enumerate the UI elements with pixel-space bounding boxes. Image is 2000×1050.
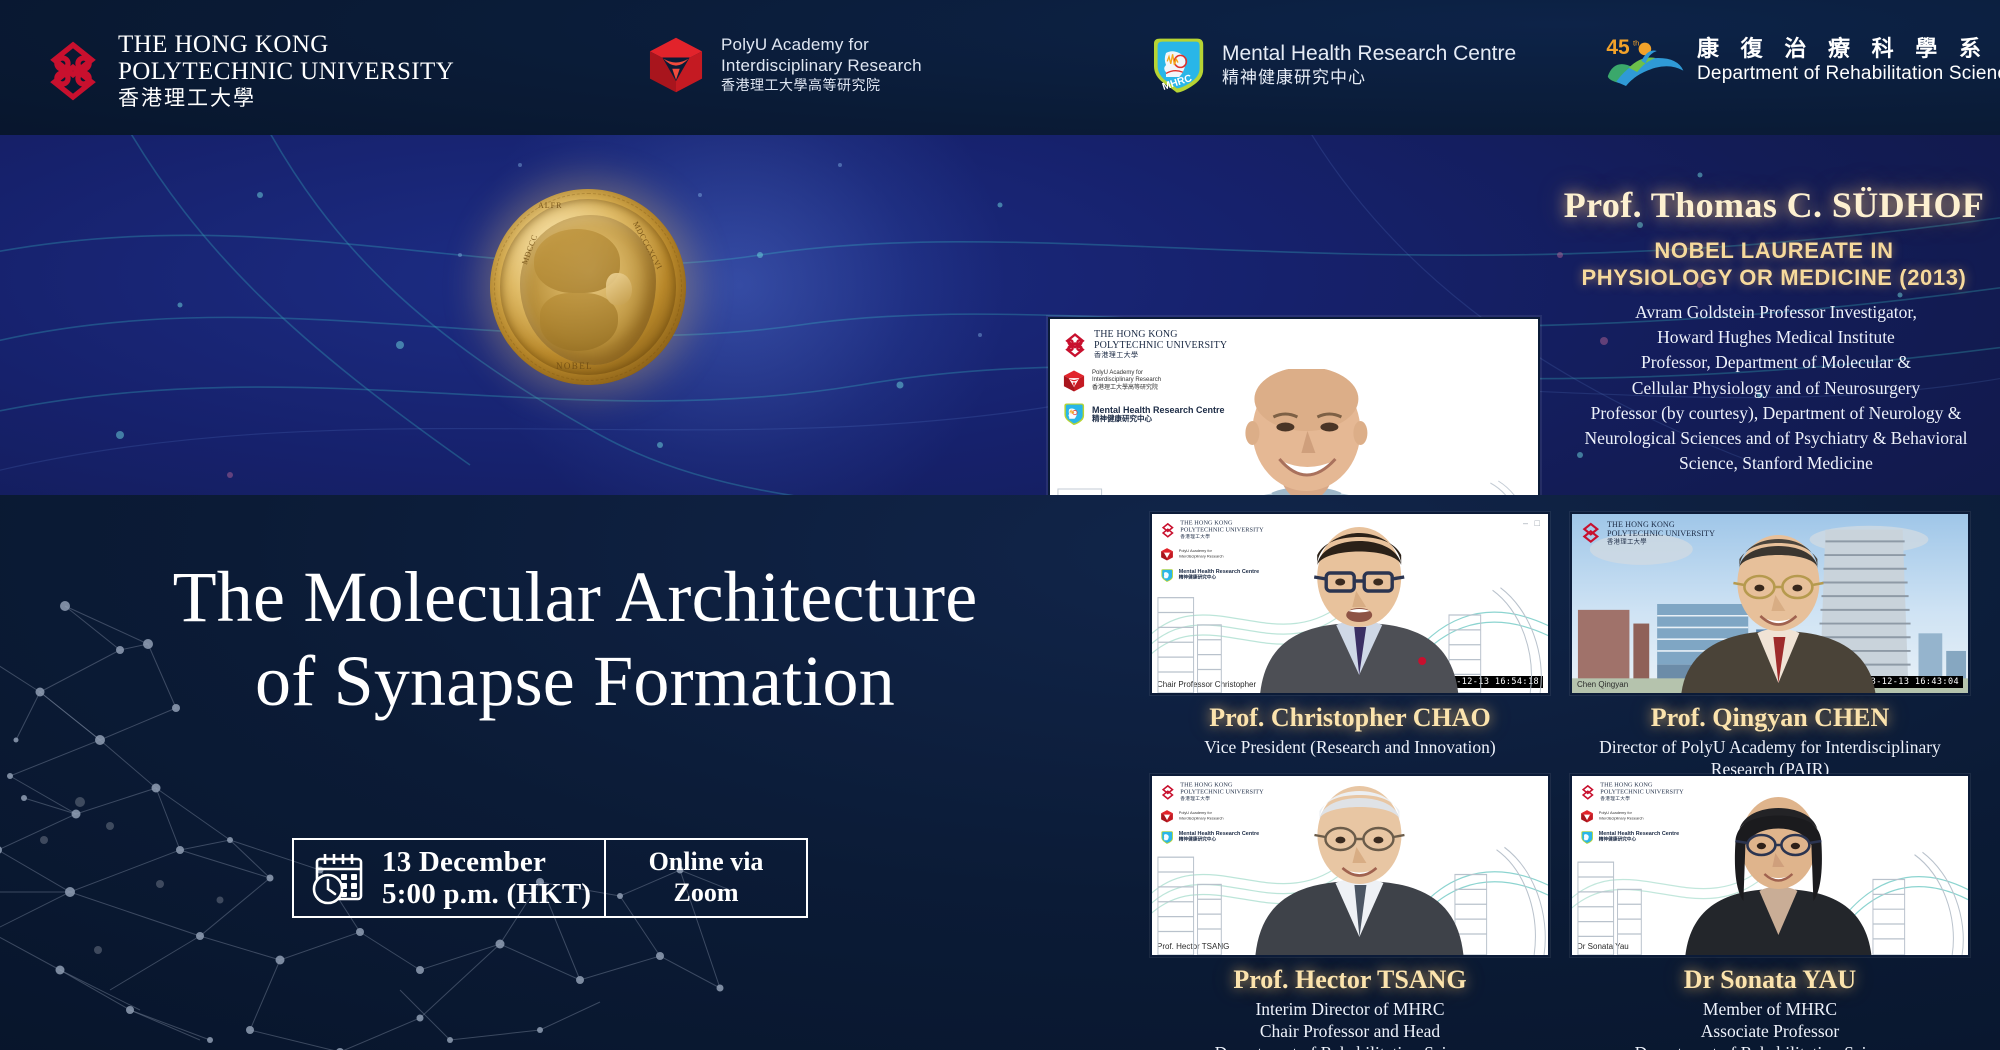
speaker-affiliation: Avram Goldstein Professor Investigator, … <box>1558 300 1994 476</box>
thumb-polyu-line2: POLYTECHNIC UNIVERSITY <box>1607 529 1715 538</box>
event-time: 5:00 p.m. (HKT) <box>382 878 591 910</box>
thumb-polyu-cn: 香港理工大學 <box>1180 797 1263 802</box>
overlay-polyu-line2: POLYTECHNIC UNIVERSITY <box>1094 340 1227 351</box>
polyu-knot-icon <box>1160 784 1176 800</box>
pair-chinese: 香港理工大學高等研究院 <box>721 78 922 95</box>
panelist-roles: Member of MHRC Associate Professor Depar… <box>1570 998 1970 1050</box>
venue-line1: Online via <box>649 847 764 878</box>
thumb-polyu-cn: 香港理工大學 <box>1180 535 1263 540</box>
lecture-title: The Molecular Architecture of Synapse Fo… <box>60 555 1090 723</box>
polyu-knot-icon <box>1160 522 1176 538</box>
logo-mhrc: MHRC Mental Health Research Centre 精神健康研… <box>1148 35 1516 95</box>
pair-cube-icon <box>1062 369 1086 393</box>
panelist-video-thumb: THE HONG KONG POLYTECHNIC UNIVERSITY 香港理… <box>1150 512 1550 695</box>
thumb-polyu-line2: POLYTECHNIC UNIVERSITY <box>1180 789 1263 796</box>
medal-text-bottom: NOBEL <box>556 361 593 371</box>
panelist-name: Prof. Hector TSANG <box>1150 965 1550 995</box>
overlay-logo-pair: PolyU Academy for Interdisciplinary Rese… <box>1580 809 1684 823</box>
thumb-overlay-logos: THE HONG KONG POLYTECHNIC UNIVERSITY 香港理… <box>1580 520 1715 554</box>
thumb-corner-name: Chen Qingyan <box>1577 680 1628 689</box>
poster-root: THE HONG KONG POLYTECHNIC UNIVERSITY 香港理… <box>0 0 2000 1050</box>
video-overlay-logos: THE HONG KONG POLYTECHNIC UNIVERSITY 香港理… <box>1062 329 1227 435</box>
logo-polyu: THE HONG KONG POLYTECHNIC UNIVERSITY 香港理… <box>42 32 454 109</box>
panelist-role-line: Department of Rehabilitation Sciences <box>1150 1042 1550 1050</box>
affiliation-line: Avram Goldstein Professor Investigator, <box>1558 300 1994 325</box>
panelist-video-thumb: THE HONG KONG POLYTECHNIC UNIVERSITY 香港理… <box>1150 774 1550 957</box>
overlay-logo-mhrc: Mental Health Research Centre 精神健康研究中心 <box>1062 402 1227 426</box>
overlay-logo-polyu: THE HONG KONG POLYTECHNIC UNIVERSITY 香港理… <box>1580 520 1715 546</box>
affiliation-line: Neurological Sciences and of Psychiatry … <box>1558 426 1994 451</box>
panelist-video-thumb: THE HONG KONG POLYTECHNIC UNIVERSITY 香港理… <box>1570 774 1970 957</box>
venue-line2: Zoom <box>649 878 764 909</box>
panelist-role-line: Member of MHRC <box>1570 998 1970 1020</box>
mhrc-english: Mental Health Research Centre <box>1222 42 1516 67</box>
affiliation-line: Howard Hughes Medical Institute <box>1558 325 1994 350</box>
pair-cube-icon <box>1160 809 1174 823</box>
nobel-medal-graphic: MDCCC MDCCCXCVI ALFR NOBEL <box>472 157 702 457</box>
panelist-role-line: Interim Director of MHRC <box>1150 998 1550 1020</box>
overlay-logo-polyu: THE HONG KONG POLYTECHNIC UNIVERSITY 香港理… <box>1160 520 1264 540</box>
panelist-name: Dr Sonata YAU <box>1570 965 1970 995</box>
thumb-polyu-line2: POLYTECHNIC UNIVERSITY <box>1180 527 1263 534</box>
overlay-polyu-chinese: 香港理工大學 <box>1094 352 1227 360</box>
thumb-overlay-logos: THE HONG KONG POLYTECHNIC UNIVERSITY 香港理… <box>1160 520 1264 589</box>
svg-text:th: th <box>1633 38 1639 47</box>
overlay-logo-mhrc: Mental Health Research Centre 精神健康研究中心 <box>1160 830 1264 844</box>
mhrc-brain-icon <box>1580 830 1594 844</box>
speaker-award-line1: NOBEL LAUREATE IN <box>1548 238 2000 265</box>
logo-pair: PolyU Academy for Interdisciplinary Rese… <box>645 34 922 96</box>
calendar-clock-icon <box>310 849 370 907</box>
medal-nose <box>606 273 632 305</box>
rehab-45th-ribbon-icon: 45 th <box>1605 30 1689 92</box>
panelist-video-thumb: THE HONG KONG POLYTECHNIC UNIVERSITY 香港理… <box>1570 512 1970 695</box>
panelist-grid: THE HONG KONG POLYTECHNIC UNIVERSITY 香港理… <box>1130 512 1990 1050</box>
overlay-polyu-line1: THE HONG KONG <box>1094 329 1227 340</box>
event-details-box: 13 December 5:00 p.m. (HKT) Online via Z… <box>292 838 808 918</box>
overlay-logo-polyu: THE HONG KONG POLYTECHNIC UNIVERSITY 香港理… <box>1062 329 1227 360</box>
thumb-mhrc-cn: 精神健康研究中心 <box>1179 838 1259 843</box>
mhrc-brain-icon <box>1160 830 1174 844</box>
overlay-pair-chinese: 香港理工大學高等研究院 <box>1092 385 1161 393</box>
rehab-english: Department of Rehabilitation Sciences <box>1697 63 2000 85</box>
lecture-title-line1: The Molecular Architecture <box>60 555 1090 639</box>
overlay-logo-mhrc: Mental Health Research Centre 精神健康研究中心 <box>1580 830 1684 844</box>
event-datetime: 13 December 5:00 p.m. (HKT) <box>294 840 606 916</box>
polyu-line1: THE HONG KONG <box>118 31 329 58</box>
panelist-name: Prof. Christopher CHAO <box>1150 703 1550 733</box>
main-speaker-video-tile: THE HONG KONG POLYTECHNIC UNIVERSITY 香港理… <box>1048 317 1540 495</box>
thumb-mhrc-cn: 精神健康研究中心 <box>1179 576 1259 581</box>
panelist-roles: Vice President (Research and Innovation) <box>1150 736 1550 758</box>
logo-rehab-sciences: 45 th 康 復 治 療 科 學 系 Department of Rehabi… <box>1605 30 2000 92</box>
affiliation-line: Cellular Physiology and of Neurosurgery <box>1558 376 1994 401</box>
panelist-role-line: Associate Professor <box>1570 1020 1970 1042</box>
overlay-logo-pair: PolyU Academy for Interdisciplinary Rese… <box>1062 369 1227 393</box>
thumb-mhrc-cn: 精神健康研究中心 <box>1599 838 1679 843</box>
panelist-card: THE HONG KONG POLYTECHNIC UNIVERSITY 香港理… <box>1570 774 1970 1050</box>
event-venue: Online via Zoom <box>606 840 806 916</box>
polyu-chinese: 香港理工大學 <box>118 87 454 109</box>
lecture-title-line2: of Synapse Formation <box>60 639 1090 723</box>
medal-text-top: ALFR <box>538 201 562 210</box>
thumb-overlay-logos: THE HONG KONG POLYTECHNIC UNIVERSITY 香港理… <box>1160 782 1264 851</box>
thumb-polyu-line1: THE HONG KONG <box>1607 520 1715 529</box>
overlay-logo-mhrc: Mental Health Research Centre 精神健康研究中心 <box>1160 568 1264 582</box>
panelist-name: Prof. Qingyan CHEN <box>1570 703 1970 733</box>
panelist-role-line: Department of Rehabilitation Sciences <box>1570 1042 1970 1050</box>
pair-cube-icon <box>1160 547 1174 561</box>
thumb-overlay-logos: THE HONG KONG POLYTECHNIC UNIVERSITY 香港理… <box>1580 782 1684 851</box>
overlay-logo-polyu: THE HONG KONG POLYTECHNIC UNIVERSITY 香港理… <box>1160 782 1264 802</box>
rehab-chinese: 康 復 治 療 科 學 系 <box>1697 37 2000 62</box>
panelist-portrait <box>1673 789 1883 955</box>
overlay-logo-polyu: THE HONG KONG POLYTECHNIC UNIVERSITY 香港理… <box>1580 782 1684 802</box>
affiliation-line: Professor, Department of Molecular & <box>1558 350 1994 375</box>
panelist-role-line: Chair Professor and Head <box>1150 1020 1550 1042</box>
mhrc-brain-icon <box>1160 568 1174 582</box>
thumb-polyu-line2: POLYTECHNIC UNIVERSITY <box>1600 789 1683 796</box>
header-logo-bar: THE HONG KONG POLYTECHNIC UNIVERSITY 香港理… <box>0 0 2000 135</box>
polyu-knot-icon <box>42 40 104 102</box>
panelist-portrait <box>1673 533 1883 693</box>
zoom-window-controls: – □ <box>1523 518 1542 528</box>
svg-text:45: 45 <box>1606 36 1630 59</box>
overlay-logo-pair: PolyU Academy for Interdisciplinary Rese… <box>1160 809 1264 823</box>
polyu-line2: POLYTECHNIC UNIVERSITY <box>118 58 454 85</box>
panelist-role-line: Vice President (Research and Innovation) <box>1150 736 1550 758</box>
panelist-card: THE HONG KONG POLYTECHNIC UNIVERSITY 香港理… <box>1150 774 1550 1050</box>
thumb-pair-line2: Interdisciplinary Research <box>1599 816 1644 821</box>
mhrc-brain-icon: MHRC <box>1148 35 1208 95</box>
panelist-portrait <box>1241 785 1477 955</box>
nobel-medal-icon: MDCCC MDCCCXCVI ALFR NOBEL <box>490 189 686 385</box>
panelist-roles: Interim Director of MHRC Chair Professor… <box>1150 998 1550 1050</box>
overlay-pair-line1: PolyU Academy for <box>1092 370 1161 378</box>
medal-beard <box>540 293 618 351</box>
polyu-knot-icon <box>1580 784 1596 800</box>
overlay-pair-line2: Interdisciplinary Research <box>1092 377 1161 385</box>
thumb-polyu-cn: 香港理工大學 <box>1600 797 1683 802</box>
thumb-polyu-cn: 香港理工大學 <box>1607 539 1715 546</box>
overlay-mhrc-chinese: 精神健康研究中心 <box>1092 415 1225 423</box>
overlay-logo-pair: PolyU Academy for Interdisciplinary Rese… <box>1160 547 1264 561</box>
affiliation-line: Professor (by courtesy), Department of N… <box>1558 401 1994 426</box>
mhrc-brain-icon <box>1062 402 1086 426</box>
event-date: 13 December <box>382 846 591 878</box>
pair-cube-icon <box>1580 809 1594 823</box>
pair-line2: Interdisciplinary Research <box>721 56 922 76</box>
pair-line1: PolyU Academy for <box>721 35 922 55</box>
thumb-pair-line2: Interdisciplinary Research <box>1179 554 1224 559</box>
panelist-portrait <box>1244 525 1474 693</box>
pair-cube-icon <box>645 34 707 96</box>
polyu-knot-icon <box>1062 332 1088 358</box>
speaker-award: NOBEL LAUREATE IN PHYSIOLOGY OR MEDICINE… <box>1548 238 2000 292</box>
speaker-award-line2: PHYSIOLOGY OR MEDICINE (2013) <box>1548 265 2000 292</box>
speaker-name: Prof. Thomas C. SÜDHOF <box>1548 184 2000 226</box>
panelist-card: THE HONG KONG POLYTECHNIC UNIVERSITY 香港理… <box>1570 512 1970 802</box>
polyu-knot-icon <box>1580 522 1602 544</box>
affiliation-line: Science, Stanford Medicine <box>1558 451 1994 476</box>
panelist-card: THE HONG KONG POLYTECHNIC UNIVERSITY 香港理… <box>1150 512 1550 758</box>
mhrc-chinese: 精神健康研究中心 <box>1222 68 1516 88</box>
thumb-pair-line2: Interdisciplinary Research <box>1179 816 1224 821</box>
